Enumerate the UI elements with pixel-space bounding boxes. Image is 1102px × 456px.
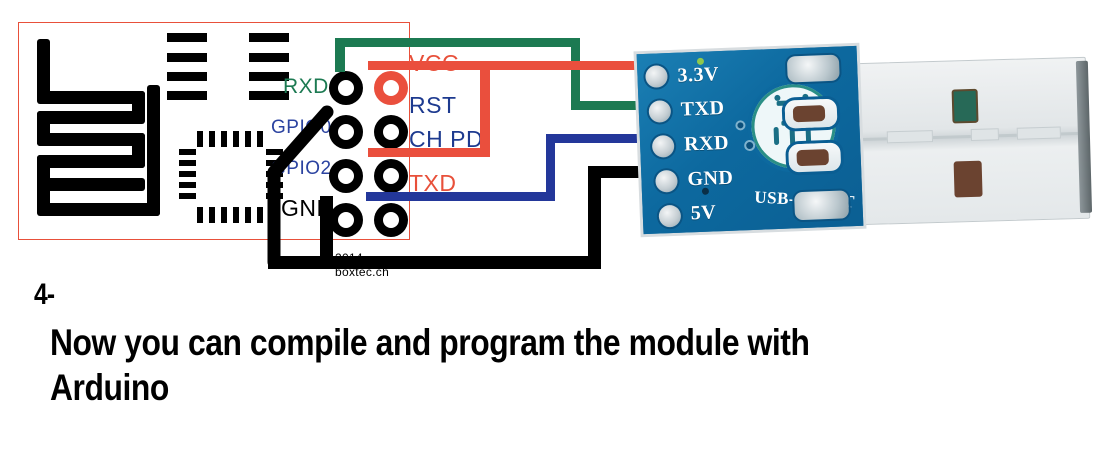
pin-label-gpio2: GPIO2 [271, 158, 332, 180]
usb-window-upper [952, 89, 979, 124]
caption-block: 4- Now you can compile and program the m… [34, 278, 1034, 410]
pin-label-rxd: RXD [283, 75, 329, 99]
adapter-label-rxd: RXD [684, 132, 730, 157]
adapter-slot-lower [788, 143, 841, 173]
adapter-slot-upper [785, 99, 838, 129]
wire-chpd-branch-vertical [480, 61, 490, 153]
pad-gpio0[interactable] [329, 115, 363, 149]
wire-gnd-riser [588, 166, 601, 269]
esp8266-module: RXD GPIO0 GPIO2 GND 2014 boxtec.ch [18, 22, 410, 240]
caption-line-2: Arduino [50, 365, 1013, 410]
pad-txd[interactable] [374, 203, 408, 237]
adapter-label-5v: 5V [690, 201, 716, 225]
caption-text: Now you can compile and program the modu… [50, 320, 1013, 410]
pad-gnd[interactable] [329, 203, 363, 237]
adapter-label-3v3: 3.3V [677, 63, 719, 88]
qfn-chip-footprint [179, 131, 283, 223]
wire-rxd-to-txd-top [335, 38, 580, 47]
wire-chpd-branch-horizontal [368, 148, 490, 157]
pad-rst[interactable] [374, 115, 408, 149]
step-number: 4- [34, 278, 54, 312]
pin-label-rst: RST [409, 92, 457, 119]
wire-gnd-bottom-rail [268, 256, 601, 269]
adapter-corner-pad-top [787, 55, 840, 83]
adapter-pcb: 3.3V TXD RXD GND 5V USB->UART [637, 46, 864, 234]
wire-txd-to-rxd-h1 [366, 192, 554, 201]
pad-gpio2[interactable] [329, 159, 363, 193]
pad-chpd[interactable] [374, 159, 408, 193]
usb-window-lower [954, 161, 983, 198]
pad-vcc[interactable] [374, 71, 408, 105]
pad-rxd[interactable] [329, 71, 363, 105]
usb-uart-adapter: 3.3V TXD RXD GND 5V USB->UART [612, 28, 1102, 268]
wire-rxd-to-txd-down [571, 38, 580, 109]
adapter-label-gnd: GND [687, 167, 734, 192]
pin-label-gpio0: GPIO0 [271, 117, 332, 139]
adapter-label-txd: TXD [680, 97, 725, 122]
usb-connector [848, 49, 1095, 232]
diagram-canvas: RXD GPIO0 GPIO2 GND 2014 boxtec.ch VCC R… [0, 0, 1102, 456]
caption-line-1: Now you can compile and program the modu… [50, 320, 1013, 365]
wire-txd-to-rxd-v [546, 134, 555, 201]
adapter-corner-pad-bottom [794, 190, 849, 220]
